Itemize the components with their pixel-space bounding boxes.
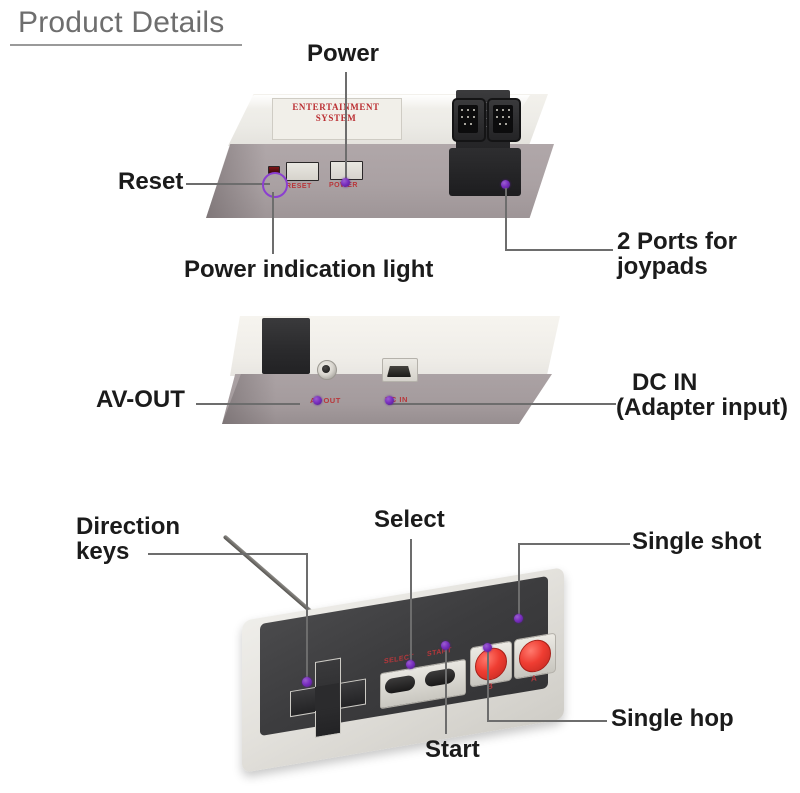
annotation-direction-keys-line-1: Direction xyxy=(76,515,180,540)
leader-dc-in xyxy=(388,403,616,405)
controller-port-1[interactable] xyxy=(452,98,486,142)
leader-power xyxy=(345,72,347,182)
leader-single-shot-vertical xyxy=(518,543,520,619)
reset-button[interactable] xyxy=(286,162,319,181)
ring-power-indication-light xyxy=(262,172,288,198)
leader-select xyxy=(410,539,412,664)
leader-single-hop-vertical xyxy=(487,648,489,721)
controller-cable xyxy=(223,534,313,613)
annotation-direction-keys-line-2: keys xyxy=(76,540,129,565)
port-2-cavity xyxy=(493,105,513,133)
dot-direction-keys xyxy=(302,677,312,687)
direction-pad[interactable] xyxy=(290,654,364,740)
annotation-reset: Reset xyxy=(118,170,183,195)
leader-av-out xyxy=(196,403,300,405)
product-details-diagram: Product Details ENTERTAINMENT SYSTEM RES… xyxy=(0,0,800,793)
dot-start xyxy=(441,641,450,650)
dot-dc-in xyxy=(385,396,394,405)
leader-single-shot-horizontal xyxy=(518,543,630,545)
leader-start xyxy=(445,646,447,734)
console-front-illustration: ENTERTAINMENT SYSTEM RESET POWER xyxy=(206,94,566,224)
annotation-ports-line-1: 2 Ports for xyxy=(617,230,737,255)
title-underline xyxy=(10,44,242,46)
leader-power-indication-light xyxy=(272,192,274,254)
leader-reset xyxy=(186,183,270,185)
controller-port-2[interactable] xyxy=(487,98,521,142)
annotation-select: Select xyxy=(374,508,445,533)
brand-line-1: ENTERTAINMENT xyxy=(292,102,379,112)
dot-power-button xyxy=(341,178,350,187)
annotation-power-indication-light: Power indication light xyxy=(184,258,433,283)
annotation-power: Power xyxy=(307,42,379,67)
port-1-cavity xyxy=(458,105,478,133)
console-front-left-shadow xyxy=(206,144,266,218)
controller-ports-block xyxy=(449,148,521,196)
av-out-jack-hole xyxy=(322,365,330,373)
dot-single-hop xyxy=(483,643,492,652)
annotation-ports-line-2: joypads xyxy=(617,255,708,280)
console-back-cartridge-flap xyxy=(262,318,310,374)
leader-single-hop-horizontal xyxy=(487,720,607,722)
annotation-dc-in-line-2: (Adapter input) xyxy=(616,396,788,421)
reset-button-label: RESET xyxy=(286,183,312,190)
leader-ports-horizontal xyxy=(505,249,613,251)
dpad-center xyxy=(315,683,339,711)
dot-select xyxy=(406,660,415,669)
page-title: Product Details xyxy=(18,6,224,40)
brand-line-2: SYSTEM xyxy=(316,113,357,123)
dc-in-port-cavity xyxy=(387,366,411,377)
console-back-illustration: AV OUT DC IN xyxy=(222,316,562,428)
console-brand-text: ENTERTAINMENT SYSTEM xyxy=(272,102,400,124)
leader-direction-keys-vertical xyxy=(306,553,308,681)
leader-direction-keys-horizontal xyxy=(148,553,308,555)
annotation-single-shot: Single shot xyxy=(632,530,761,555)
leader-ports-vertical xyxy=(505,188,507,250)
annotation-single-hop: Single hop xyxy=(611,707,734,732)
annotation-av-out: AV-OUT xyxy=(96,388,185,413)
button-a-label: A xyxy=(531,674,537,684)
annotation-dc-in-line-1: DC IN xyxy=(632,371,697,396)
dot-av-out xyxy=(313,396,322,405)
annotation-start: Start xyxy=(425,738,480,763)
dot-single-shot xyxy=(514,614,523,623)
